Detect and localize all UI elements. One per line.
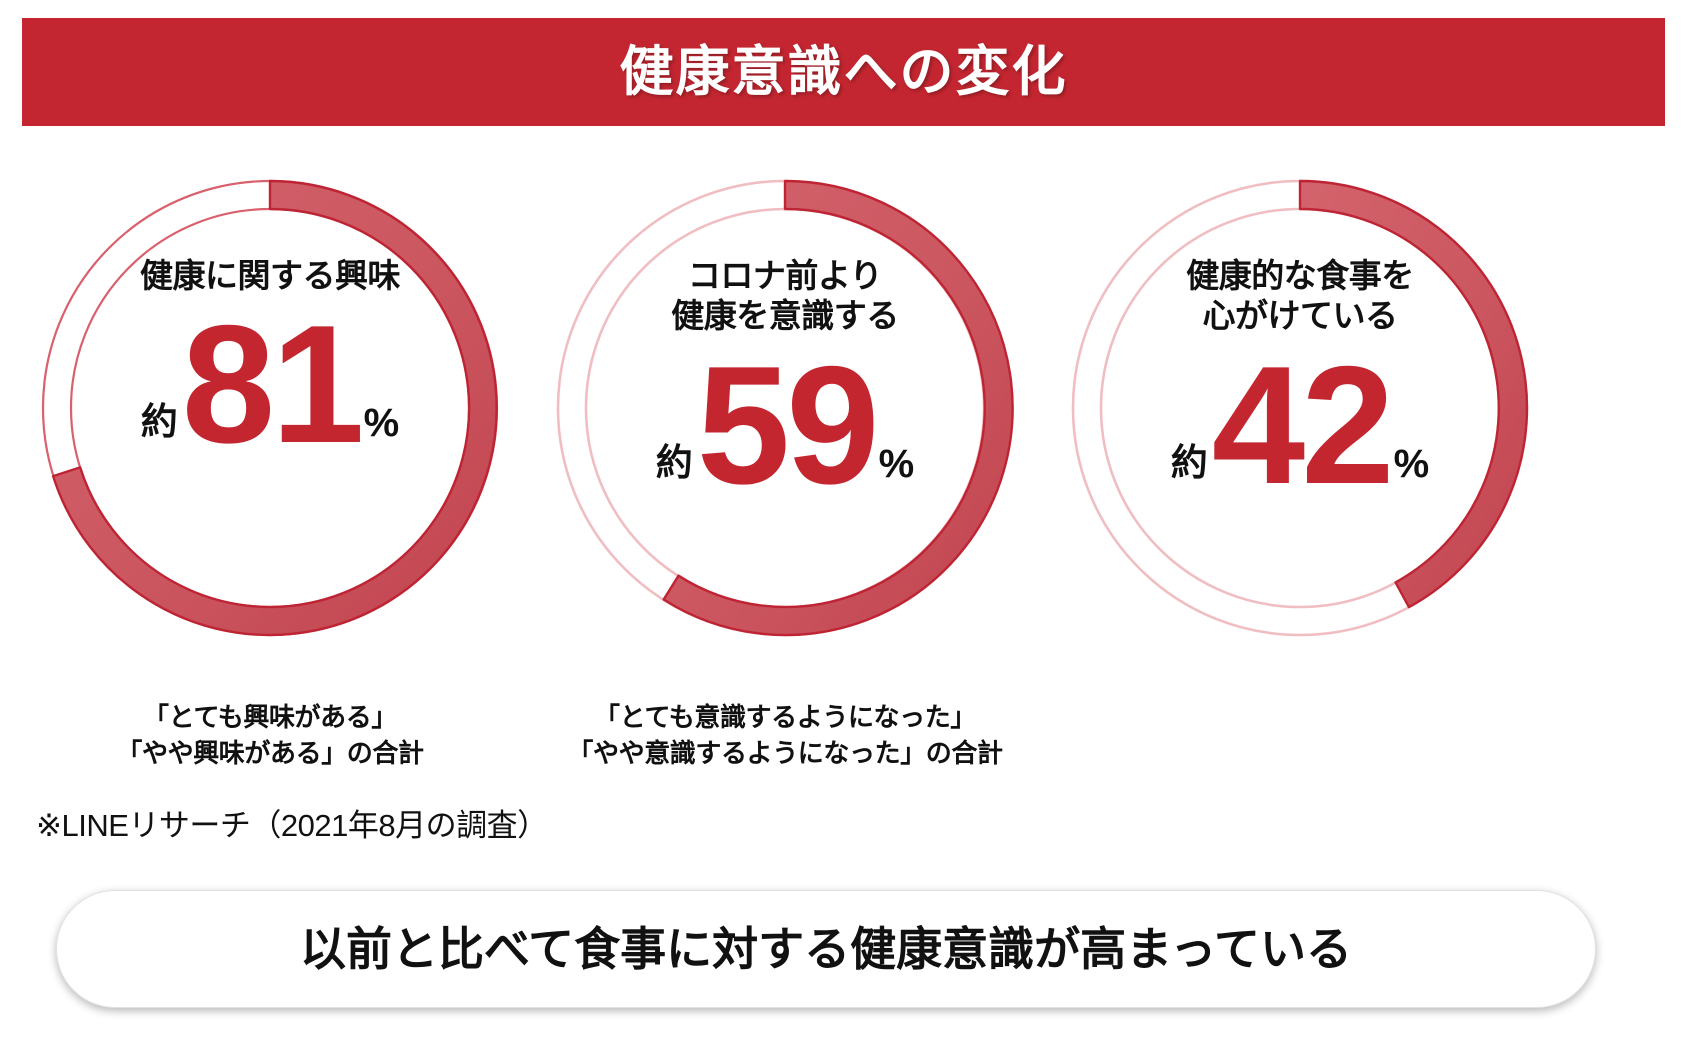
percent-suffix: % xyxy=(364,403,400,443)
donut-value-interest: 81 xyxy=(182,306,361,462)
donut-value-row-interest: 約 81 % xyxy=(141,306,399,462)
donut-card-healthy-meal: 健康的な食事を 心がけている 約 42 % xyxy=(1040,148,1560,668)
donut-card-interest: 健康に関する興味 約 81 % xyxy=(10,148,530,668)
donut-value-row-awareness: 約 59 % xyxy=(656,347,914,503)
donut-chart-row: 健康に関する興味 約 81 % コ xyxy=(0,148,1687,688)
donut-content-awareness: コロナ前より 健康を意識する 約 59 % xyxy=(585,208,985,608)
conclusion-text: 以前と比べて食事に対する健康意識が高まっている xyxy=(300,926,1352,972)
donut-content-interest: 健康に関する興味 約 81 % xyxy=(70,208,470,608)
caption-line: 「やや意識するようになった」の合計 xyxy=(525,736,1045,772)
percent-suffix: % xyxy=(1394,444,1430,484)
donut-value-awareness: 59 xyxy=(697,347,876,503)
header-banner: 健康意識への変化 xyxy=(22,18,1665,126)
donut-label-awareness: コロナ前より 健康を意識する xyxy=(671,256,899,337)
donut-content-healthy-meal: 健康的な食事を 心がけている 約 42 % xyxy=(1100,208,1500,608)
donut-card-awareness: コロナ前より 健康を意識する 約 59 % xyxy=(525,148,1045,668)
caption-line: 「やや興味がある」の合計 xyxy=(10,736,530,772)
approx-prefix: 約 xyxy=(141,403,178,440)
caption-line: 「とても意識するようになった」 xyxy=(525,700,1045,736)
page-title: 健康意識への変化 xyxy=(620,45,1068,99)
approx-prefix: 約 xyxy=(656,444,693,481)
conclusion-banner: 以前と比べて食事に対する健康意識が高まっている xyxy=(56,890,1596,1008)
donut-label-line: コロナ前より xyxy=(671,256,899,296)
donut-value-row-healthy-meal: 約 42 % xyxy=(1171,347,1429,503)
donut-value-healthy-meal: 42 xyxy=(1212,347,1391,503)
donut-caption-interest: 「とても興味がある」 「やや興味がある」の合計 xyxy=(10,700,530,772)
percent-suffix: % xyxy=(879,444,915,484)
donut-caption-awareness: 「とても意識するようになった」 「やや意識するようになった」の合計 xyxy=(525,700,1045,772)
donut-label-line: 健康的な食事を xyxy=(1186,256,1414,296)
donut-label-healthy-meal: 健康的な食事を 心がけている xyxy=(1186,256,1414,337)
source-footnote: ※LINEリサーチ（2021年8月の調査） xyxy=(36,800,548,845)
caption-line: 「とても興味がある」 xyxy=(10,700,530,736)
approx-prefix: 約 xyxy=(1171,444,1208,481)
